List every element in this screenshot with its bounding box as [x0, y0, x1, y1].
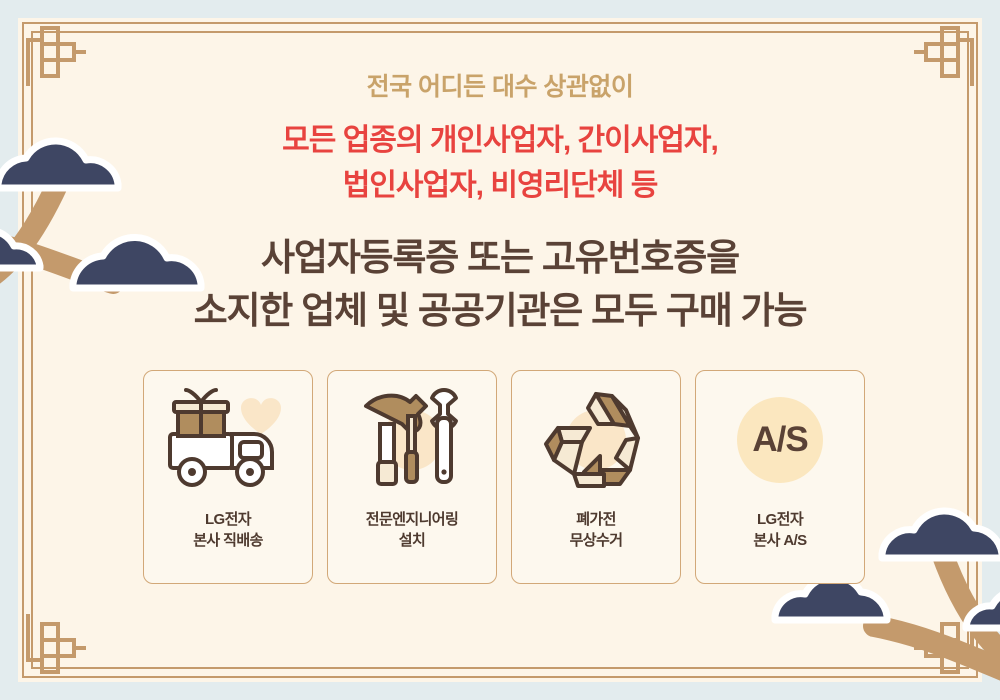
banner-text-block: 전국 어디든 대수 상관없이 모든 업종의 개인사업자, 간이사업자, 법인사업…: [0, 0, 1000, 337]
card-label-line-1: 폐가전: [570, 509, 623, 530]
card-label-line-2: 무상수거: [570, 530, 623, 551]
as-badge-icon: A/S: [696, 371, 864, 509]
feature-card-label: LG전자 본사 직배송: [193, 509, 263, 552]
headline-main-line-1: 사업자등록증 또는 고유번호증을: [0, 232, 1000, 285]
headline-main-line-2: 소지한 업체 및 공공기관은 모두 구매 가능: [0, 285, 1000, 338]
feature-card-installation: 전문엔지니어링 설치: [327, 370, 497, 584]
headline-red-line-2: 법인사업자, 비영리단체 등: [0, 164, 1000, 208]
feature-card-label: 전문엔지니어링 설치: [366, 509, 458, 552]
banner-headline-red: 모든 업종의 개인사업자, 간이사업자, 법인사업자, 비영리단체 등: [0, 119, 1000, 208]
recycle-icon: [512, 371, 680, 509]
promotional-banner: 전국 어디든 대수 상관없이 모든 업종의 개인사업자, 간이사업자, 법인사업…: [0, 0, 1000, 700]
banner-eyebrow: 전국 어디든 대수 상관없이: [0, 72, 1000, 103]
card-label-line-2: 본사 A/S: [753, 530, 806, 551]
feature-card-delivery: LG전자 본사 직배송: [143, 370, 313, 584]
card-label-line-1: LG전자: [193, 509, 263, 530]
card-label-line-1: 전문엔지니어링: [366, 509, 458, 530]
feature-card-row: LG전자 본사 직배송 전문엔지니어링: [143, 370, 865, 584]
feature-card-label: 폐가전 무상수거: [570, 509, 623, 552]
feature-card-after-service: A/S LG전자 본사 A/S: [695, 370, 865, 584]
as-badge-text: A/S: [737, 397, 823, 483]
tools-icon: [328, 371, 496, 509]
card-label-line-2: 설치: [366, 530, 458, 551]
card-label-line-1: LG전자: [753, 509, 806, 530]
headline-red-line-1: 모든 업종의 개인사업자, 간이사업자,: [0, 119, 1000, 163]
delivery-truck-icon: [144, 371, 312, 509]
feature-card-recycle: 폐가전 무상수거: [511, 370, 681, 584]
feature-card-label: LG전자 본사 A/S: [753, 509, 806, 552]
banner-headline-main: 사업자등록증 또는 고유번호증을 소지한 업체 및 공공기관은 모두 구매 가능: [0, 232, 1000, 337]
card-label-line-2: 본사 직배송: [193, 530, 263, 551]
